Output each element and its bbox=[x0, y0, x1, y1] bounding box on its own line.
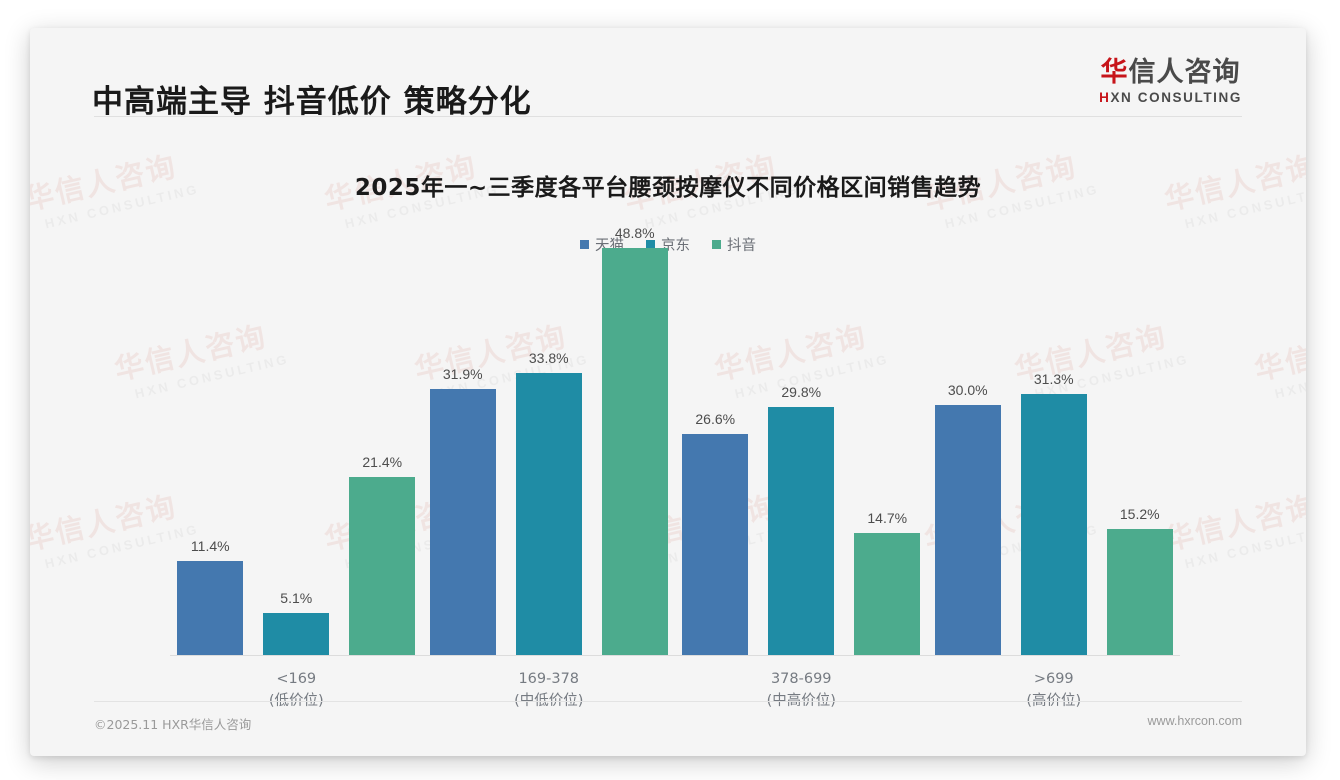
bar-天猫[interactable] bbox=[935, 405, 1001, 656]
bar-group-bars: 31.9%33.8%48.8% bbox=[423, 196, 676, 656]
bar-京东[interactable] bbox=[768, 407, 834, 656]
bar-抖音[interactable] bbox=[1107, 529, 1173, 656]
bar-value-label: 15.2% bbox=[1120, 506, 1160, 522]
x-axis-label-main: >699 bbox=[1034, 671, 1074, 687]
bar-column: 29.8% bbox=[768, 196, 834, 656]
footer-website: www.hxrcon.com bbox=[1148, 714, 1242, 728]
x-axis-label: 378-699(中高价位) bbox=[675, 668, 928, 713]
bar-group: 30.0%31.3%15.2%>699(高价位) bbox=[928, 196, 1181, 656]
bar-value-label: 33.8% bbox=[529, 350, 569, 366]
x-axis-label-main: 169-378 bbox=[518, 671, 579, 687]
slide-footer: ©2025.11 HXR华信人咨询 www.hxrcon.com bbox=[30, 714, 1306, 738]
bar-group-bars: 30.0%31.3%15.2% bbox=[928, 196, 1181, 656]
x-axis-label: <169(低价位) bbox=[170, 668, 423, 713]
bar-抖音[interactable] bbox=[349, 477, 415, 656]
brand-logo-cn-rest: 信人咨询 bbox=[1129, 57, 1241, 88]
bar-group: 26.6%29.8%14.7%378-699(中高价位) bbox=[675, 196, 928, 656]
page-root: 华信人咨询HXN CONSULTING华信人咨询HXN CONSULTING华信… bbox=[0, 0, 1340, 780]
bar-抖音[interactable] bbox=[854, 533, 920, 656]
page-title: 中高端主导 抖音低价 策略分化 bbox=[92, 76, 532, 121]
bar-value-label: 31.3% bbox=[1034, 371, 1074, 387]
bar-group: 31.9%33.8%48.8%169-378(中低价位) bbox=[423, 196, 676, 656]
brand-logo-en-accent: H bbox=[1099, 90, 1110, 105]
bar-group: 11.4%5.1%21.4%<169(低价位) bbox=[170, 196, 423, 656]
bar-column: 5.1% bbox=[263, 196, 329, 656]
bar-京东[interactable] bbox=[1021, 394, 1087, 656]
chart-axis-line bbox=[170, 655, 1180, 656]
x-axis-label: >699(高价位) bbox=[928, 668, 1181, 713]
bar-value-label: 21.4% bbox=[362, 454, 402, 470]
bar-column: 48.8% bbox=[602, 196, 668, 656]
bar-column: 15.2% bbox=[1107, 196, 1173, 656]
bar-column: 14.7% bbox=[854, 196, 920, 656]
chart-container: 2025年一~三季度各平台腰颈按摩仪不同价格区间销售趋势 天猫京东抖音 11.4… bbox=[30, 124, 1306, 710]
brand-logo-cn-accent: 华 bbox=[1101, 57, 1129, 88]
bar-group-bars: 26.6%29.8%14.7% bbox=[675, 196, 928, 656]
bar-天猫[interactable] bbox=[682, 434, 748, 656]
bar-group-bars: 11.4%5.1%21.4% bbox=[170, 196, 423, 656]
bar-value-label: 48.8% bbox=[615, 225, 655, 241]
bar-value-label: 26.6% bbox=[695, 411, 735, 427]
chart-bar-groups: 11.4%5.1%21.4%<169(低价位)31.9%33.8%48.8%16… bbox=[170, 196, 1180, 656]
x-axis-label-main: 378-699 bbox=[771, 671, 832, 687]
bar-抖音[interactable] bbox=[602, 248, 668, 656]
bar-column: 31.9% bbox=[430, 196, 496, 656]
bar-天猫[interactable] bbox=[177, 561, 243, 656]
x-axis-label-main: <169 bbox=[276, 671, 316, 687]
bar-column: 21.4% bbox=[349, 196, 415, 656]
footer-copyright: ©2025.11 HXR华信人咨询 bbox=[94, 714, 251, 733]
bar-column: 30.0% bbox=[935, 196, 1001, 656]
bar-value-label: 5.1% bbox=[280, 590, 312, 606]
header-divider bbox=[94, 116, 1242, 117]
slide-card: 华信人咨询HXN CONSULTING华信人咨询HXN CONSULTING华信… bbox=[30, 28, 1306, 756]
bar-天猫[interactable] bbox=[430, 389, 496, 656]
x-axis-label: 169-378(中低价位) bbox=[423, 668, 676, 713]
bar-京东[interactable] bbox=[263, 613, 329, 656]
brand-logo-cn: 华信人咨询 bbox=[1099, 58, 1242, 88]
bar-value-label: 31.9% bbox=[443, 366, 483, 382]
bar-京东[interactable] bbox=[516, 373, 582, 656]
bar-value-label: 30.0% bbox=[948, 382, 988, 398]
bar-column: 11.4% bbox=[177, 196, 243, 656]
brand-logo-en-rest: XN CONSULTING bbox=[1110, 90, 1242, 105]
bar-value-label: 14.7% bbox=[867, 510, 907, 526]
bar-column: 26.6% bbox=[682, 196, 748, 656]
bar-value-label: 11.4% bbox=[191, 538, 230, 554]
brand-logo: 华信人咨询 HXN CONSULTING bbox=[1099, 58, 1242, 105]
bar-column: 33.8% bbox=[516, 196, 582, 656]
chart-plot: 11.4%5.1%21.4%<169(低价位)31.9%33.8%48.8%16… bbox=[170, 196, 1180, 656]
footer-divider bbox=[94, 701, 1242, 702]
bar-column: 31.3% bbox=[1021, 196, 1087, 656]
bar-value-label: 29.8% bbox=[781, 384, 821, 400]
brand-logo-en: HXN CONSULTING bbox=[1099, 90, 1242, 105]
